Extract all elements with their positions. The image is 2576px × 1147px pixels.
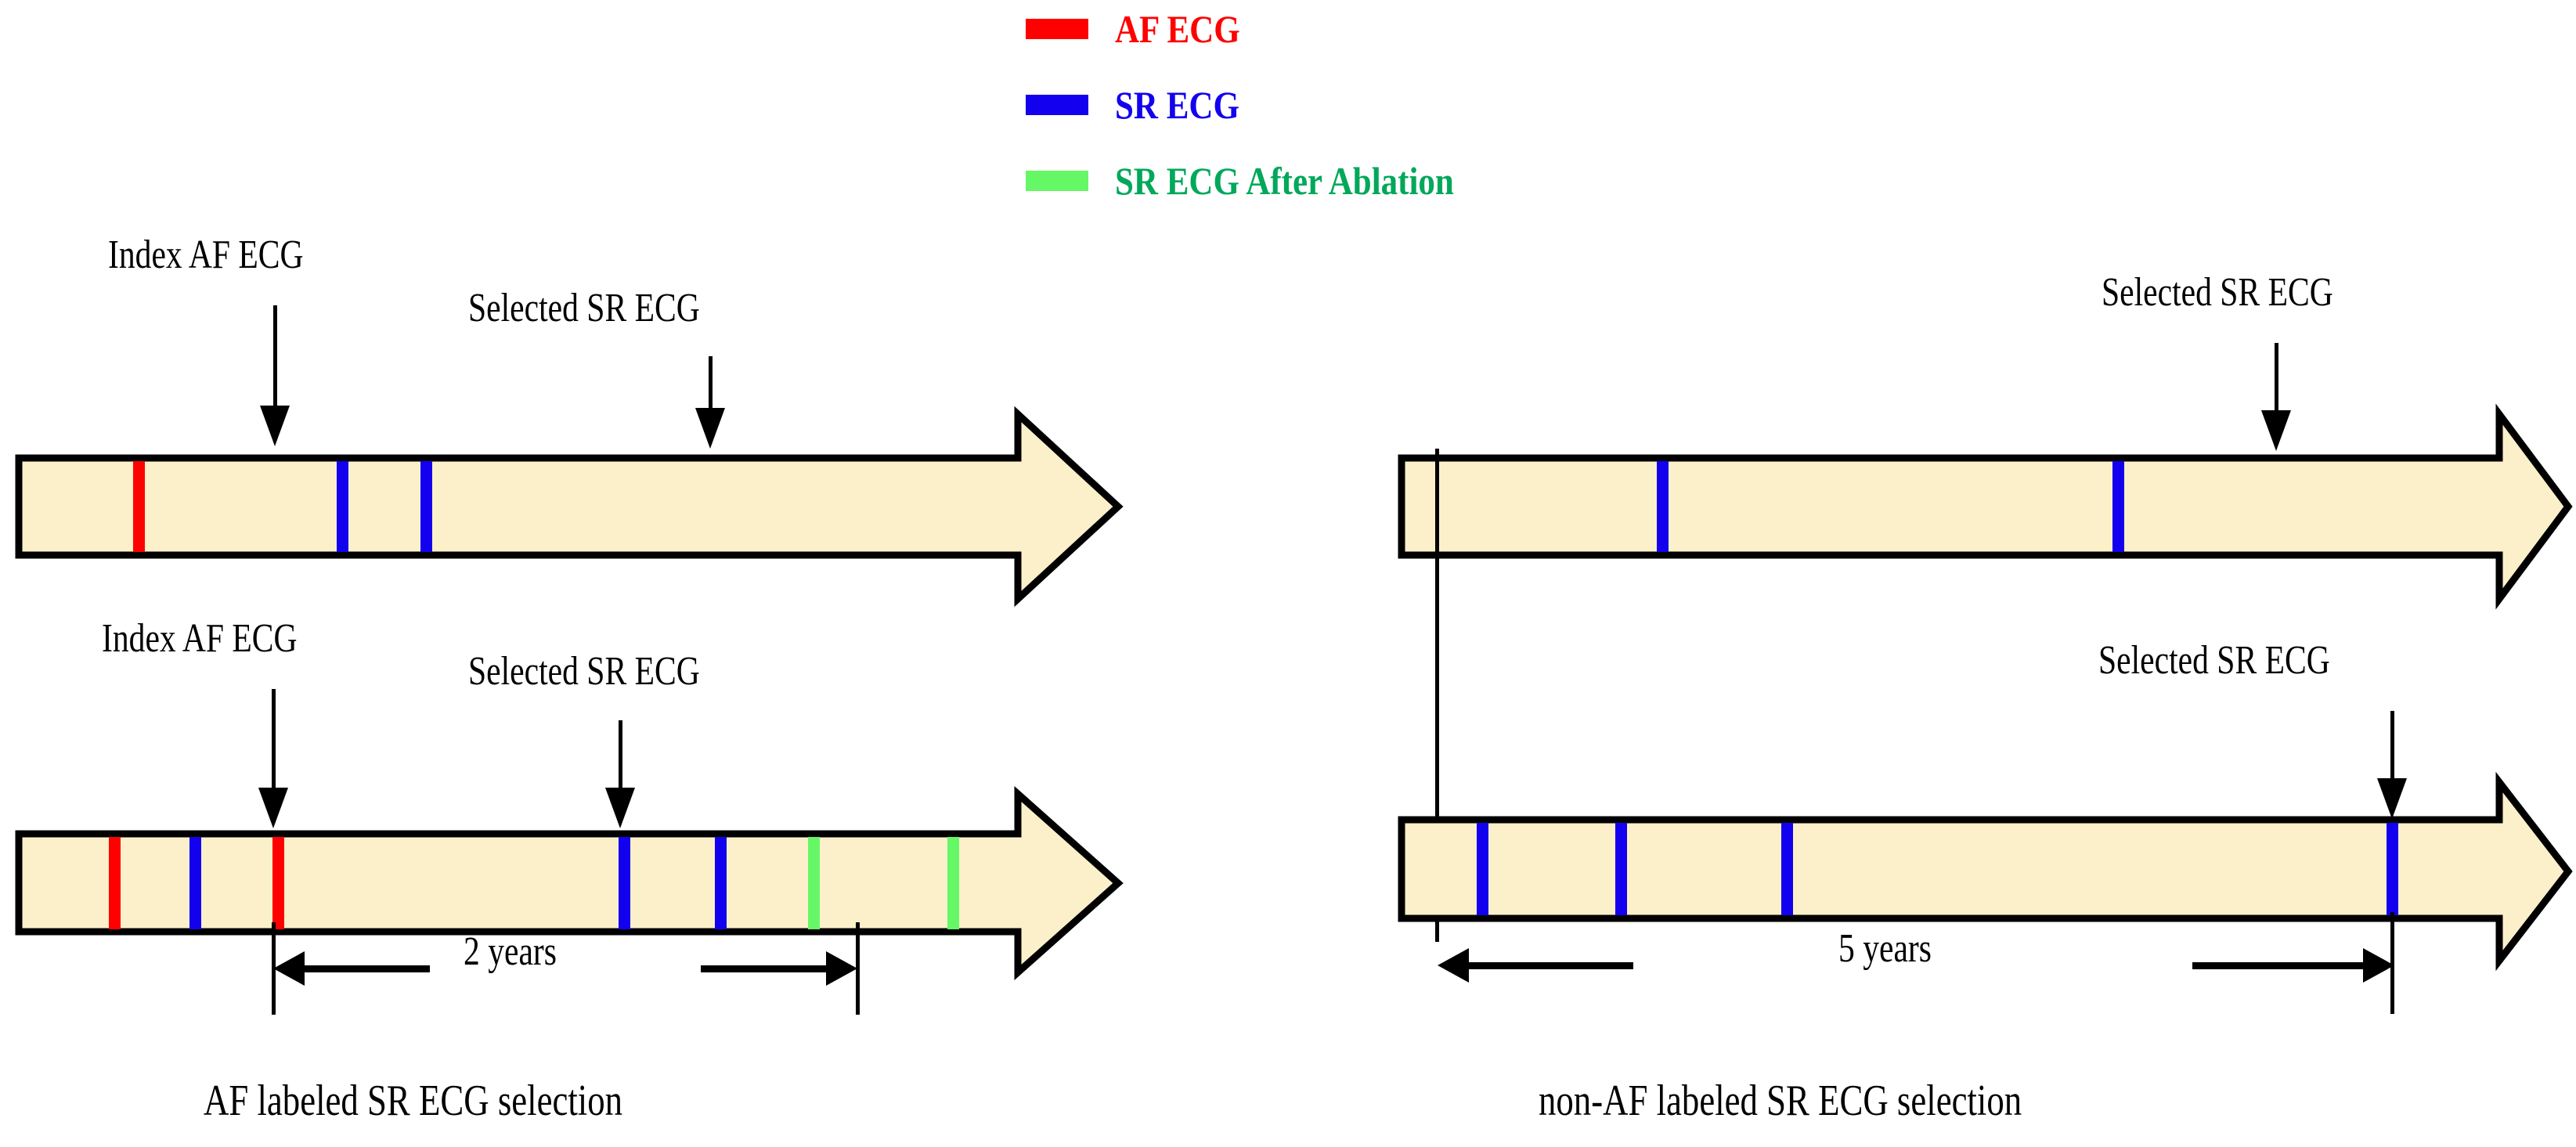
sr-after-ablation-tick-2 [947,837,959,929]
sr-tick-5 [715,837,727,929]
sr-tick-2 [420,461,432,552]
af-tick-1 [133,461,145,552]
sr-tick-r3 [1477,823,1488,915]
legend-item-af-ecg: AF ECG [1026,5,1509,53]
pointer-label-selected-sr-ecg-top: Selected SR ECG [468,288,700,329]
span-label-5-years: 5 years [1838,929,1932,969]
sr-tick-r5 [1781,823,1793,915]
color-swatch-icon [1026,171,1088,191]
pointer-label-selected-sr-ecg-right-bottom: Selected SR ECG [2098,640,2330,681]
sr-after-ablation-tick-1 [808,837,820,929]
color-swatch-icon [1026,19,1088,39]
legend: AF ECG SR ECG SR ECG After Ablation [1026,5,1509,233]
span-arrow-left-forward [701,950,857,986]
diagram-canvas: AF ECG SR ECG SR ECG After Ablation Inde… [0,0,2576,1147]
span-arrow-right-backward [1438,947,1633,983]
pointer-label-selected-sr-ecg-bottom: Selected SR ECG [468,651,700,692]
caption-right: non-AF labeled SR ECG selection [1539,1079,2022,1123]
sr-tick-3 [189,837,201,929]
sr-tick-1 [337,461,348,552]
af-tick-2 [109,837,121,929]
af-timeline-bottom [16,791,1127,983]
span-label-2-years: 2 years [464,932,557,972]
sr-tick-r2 [2112,461,2124,552]
pointer-label-index-af-ecg-top: Index AF ECG [108,235,304,276]
legend-item-sr-ecg: SR ECG [1026,81,1509,129]
nonaf-timeline-bottom [1398,779,2573,971]
pointer-label-index-af-ecg-bottom: Index AF ECG [102,619,298,659]
legend-label-sr-ecg: SR ECG [1115,82,1239,128]
nonaf-timeline-top [1398,411,2573,603]
sr-tick-4 [619,837,630,929]
caption-left: AF labeled SR ECG selection [204,1079,622,1123]
span-arrow-right-forward [2192,947,2394,983]
sr-tick-r4 [1615,823,1627,915]
span-arrow-left-backward [273,950,430,986]
pointer-label-selected-sr-ecg-right-top: Selected SR ECG [2102,272,2333,313]
color-swatch-icon [1026,95,1088,115]
legend-label-af-ecg: AF ECG [1115,6,1240,52]
legend-item-sr-ecg-after-ablation: SR ECG After Ablation [1026,157,1509,205]
sr-tick-r1 [1657,461,1669,552]
sr-tick-r6 [2387,823,2398,915]
af-timeline-top [16,411,1127,603]
legend-label-sr-ecg-after-ablation: SR ECG After Ablation [1115,158,1454,204]
af-tick-3 [272,837,284,929]
